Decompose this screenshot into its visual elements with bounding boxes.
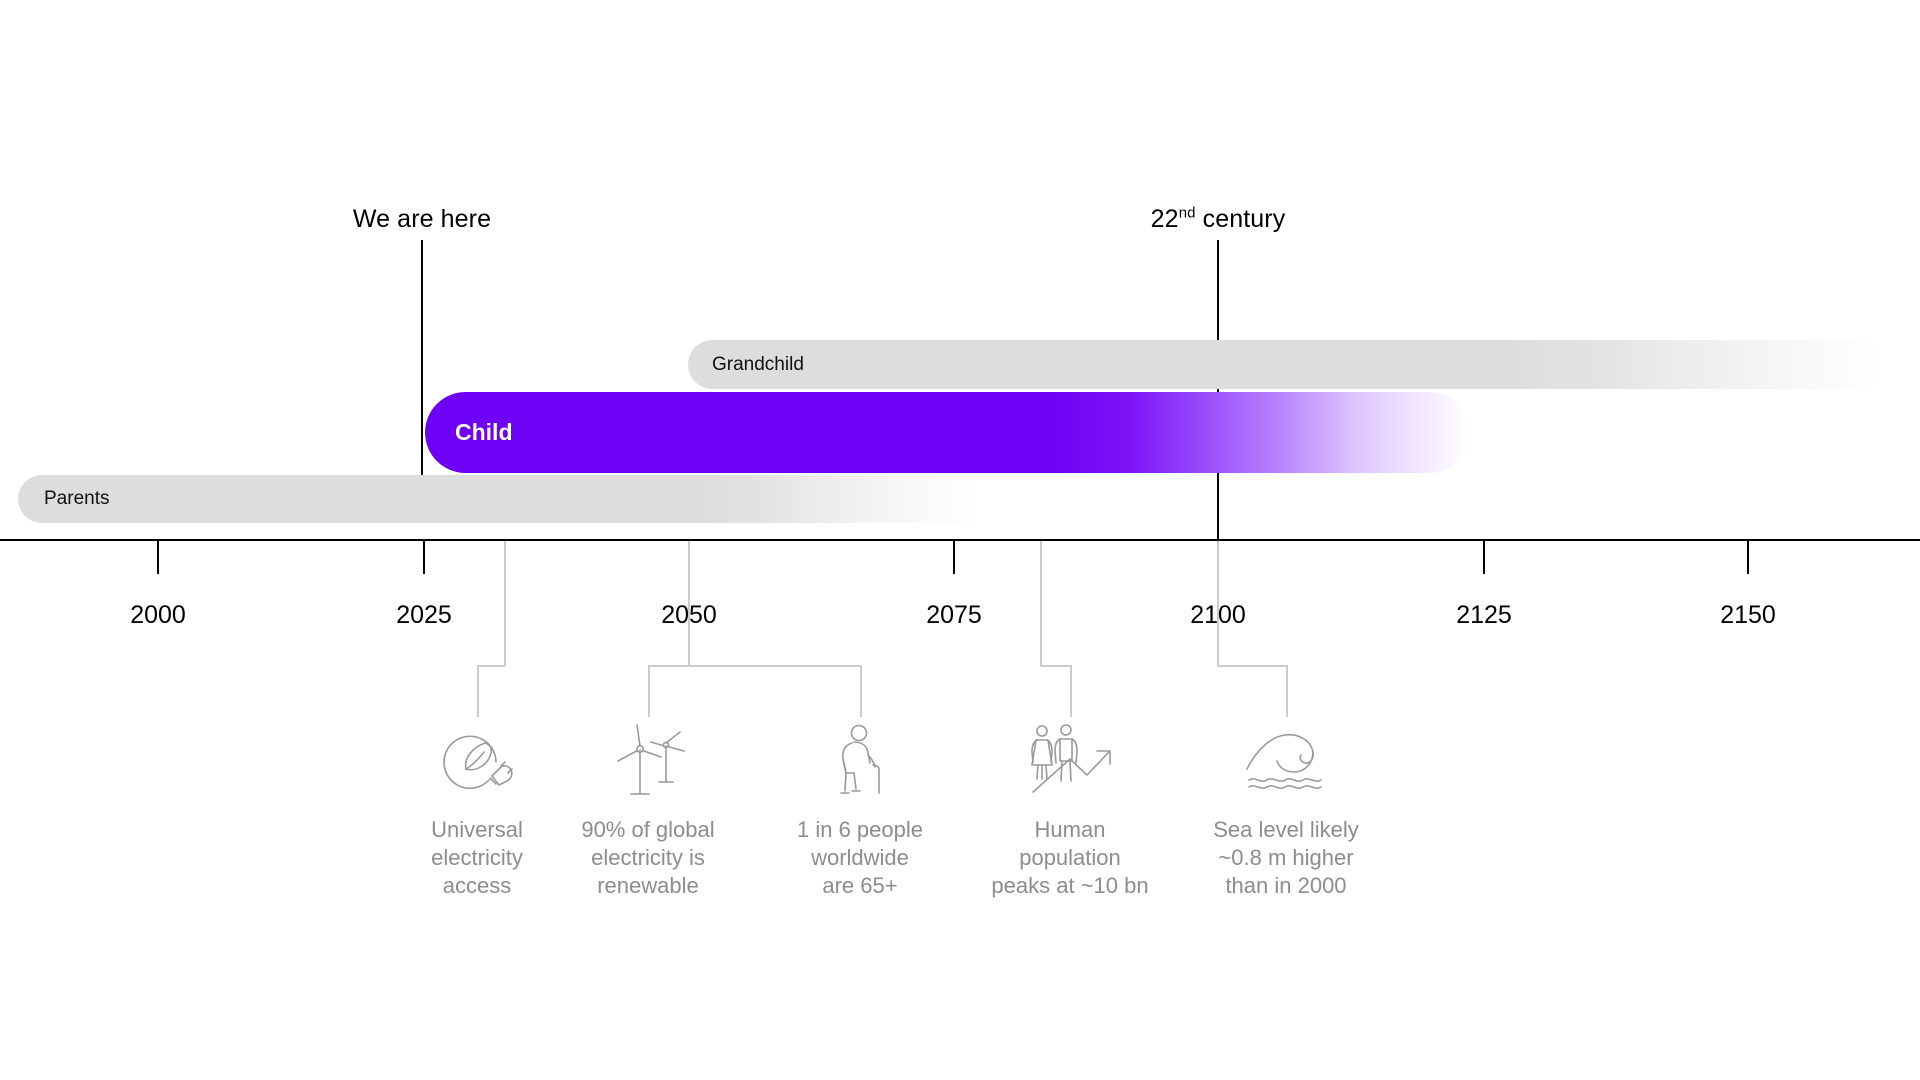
marker-text-22nd-century: 22nd century <box>1151 205 1286 233</box>
timeline-infographic: We are here 22nd century Grandchild Chil… <box>0 0 1920 1080</box>
axis-tick-2025 <box>423 541 425 574</box>
event-population-peak[interactable]: Human population peaks at ~10 bn <box>975 722 1165 900</box>
marker-label-22nd-century: 22nd century <box>1151 205 1286 234</box>
marker-text-we-are-here: We are here <box>353 205 491 233</box>
connector-sea-level-vertical-drop <box>1286 665 1288 717</box>
bar-label-parents: Parents <box>44 488 109 510</box>
event-caption-renewable-electricity: 90% of global electricity is renewable <box>553 816 743 900</box>
connector-sea-level-horizontal <box>1217 665 1287 667</box>
connector-aging-population-vertical-drop <box>860 665 862 717</box>
bar-label-child: Child <box>455 419 513 446</box>
axis-label-2025: 2025 <box>396 601 452 630</box>
axis-tick-2075 <box>953 541 955 574</box>
event-caption-sea-level-rise: Sea level likely ~0.8 m higher than in 2… <box>1191 816 1381 900</box>
axis-label-2000: 2000 <box>130 601 186 630</box>
event-caption-universal-electricity-access: Universal electricity access <box>382 816 572 900</box>
connector-population-peak-horizontal <box>1040 665 1071 667</box>
connector-2050-horizontal <box>648 665 861 667</box>
axis-label-2125: 2125 <box>1456 601 1512 630</box>
wind-turbine-icon <box>553 722 743 800</box>
marker-line-22nd-century <box>1217 240 1219 540</box>
marker-label-we-are-here: We are here <box>353 205 491 234</box>
wave-icon <box>1191 722 1381 800</box>
connector-renewable-electricity-vertical-drop <box>648 665 650 717</box>
leaf-plug-icon <box>382 722 572 800</box>
event-aging-population[interactable]: 1 in 6 people worldwide are 65+ <box>765 722 955 900</box>
event-sea-level-rise[interactable]: Sea level likely ~0.8 m higher than in 2… <box>1191 722 1381 900</box>
bar-label-grandchild: Grandchild <box>712 354 804 376</box>
axis-label-2150: 2150 <box>1720 601 1776 630</box>
bar-parents[interactable]: Parents <box>18 475 1055 523</box>
event-renewable-electricity[interactable]: 90% of global electricity is renewable <box>553 722 743 900</box>
connector-universal-electricity-vertical-top <box>504 541 506 666</box>
axis-tick-2000 <box>157 541 159 574</box>
elderly-person-icon <box>765 722 955 800</box>
population-growth-icon <box>975 722 1165 800</box>
connector-universal-electricity-vertical-drop <box>477 665 479 717</box>
axis-tick-2125 <box>1483 541 1485 574</box>
connector-sea-level-vertical-top <box>1217 541 1219 666</box>
connector-universal-electricity-horizontal <box>477 665 505 667</box>
connector-population-peak-vertical-drop <box>1070 665 1072 717</box>
event-universal-electricity-access[interactable]: Universal electricity access <box>382 722 572 900</box>
bar-grandchild[interactable]: Grandchild <box>688 340 1920 389</box>
event-caption-population-peak: Human population peaks at ~10 bn <box>975 816 1165 900</box>
axis-label-2075: 2075 <box>926 601 982 630</box>
event-caption-aging-population: 1 in 6 people worldwide are 65+ <box>765 816 955 900</box>
axis-tick-2150 <box>1747 541 1749 574</box>
marker-line-we-are-here <box>421 240 423 480</box>
connector-2050-vertical-top <box>688 541 690 666</box>
timeline-axis <box>0 539 1920 541</box>
bar-child[interactable]: Child <box>425 392 1470 473</box>
connector-population-peak-vertical-top <box>1040 541 1042 666</box>
